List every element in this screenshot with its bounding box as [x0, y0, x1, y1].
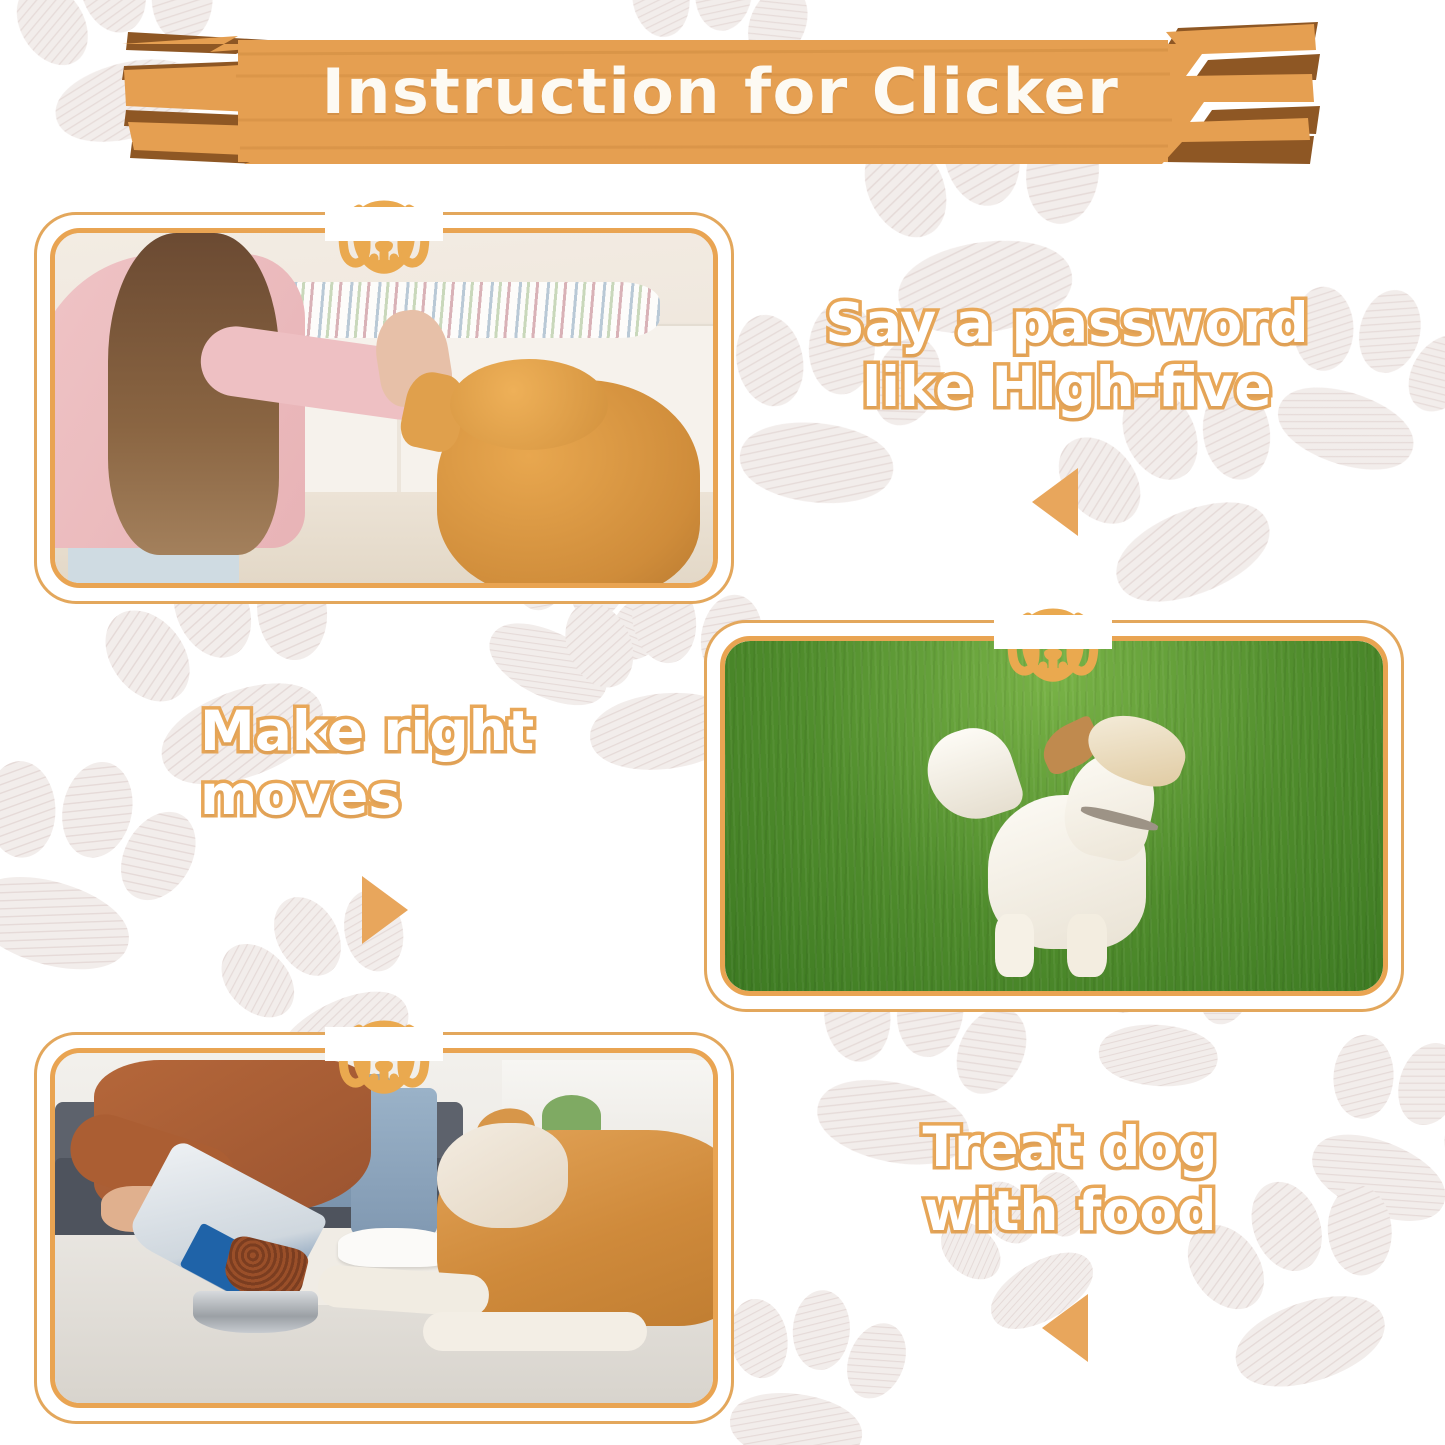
infographic-root: Instruction for Clicker [0, 0, 1445, 1445]
title-banner: Instruction for Clicker [118, 14, 1323, 172]
caption-step-2-line-2: moves [200, 764, 670, 828]
frame-inner-border [720, 636, 1388, 996]
frame-inner-border [50, 228, 718, 588]
caption-step-3-line-1: Treat dog [860, 1116, 1280, 1180]
arrow-left-icon-step-3 [1042, 1294, 1088, 1362]
arrow-right-icon-step-2 [362, 876, 408, 944]
caption-step-3-line-2: with food [860, 1180, 1280, 1244]
page-title: Instruction for Clicker [118, 14, 1323, 172]
caption-step-1-line-2: like High-five [782, 356, 1352, 420]
arrow-left-icon-step-1 [1032, 468, 1078, 536]
dog-head-badge-step-1 [325, 193, 443, 281]
caption-step-2: Make right moves [200, 700, 670, 828]
caption-step-2-line-1: Make right [200, 700, 670, 764]
photo-step-1 [55, 233, 713, 583]
photo-step-2 [725, 641, 1383, 991]
dog-head-badge-step-3 [325, 1013, 443, 1101]
frame-inner-border [50, 1048, 718, 1408]
photo-step-3 [55, 1053, 713, 1403]
caption-step-3: Treat dog with food [860, 1116, 1280, 1244]
caption-step-1: Say a password like High-five [782, 292, 1352, 420]
caption-step-1-line-1: Say a password [782, 292, 1352, 356]
dog-head-badge-step-2 [994, 601, 1112, 689]
